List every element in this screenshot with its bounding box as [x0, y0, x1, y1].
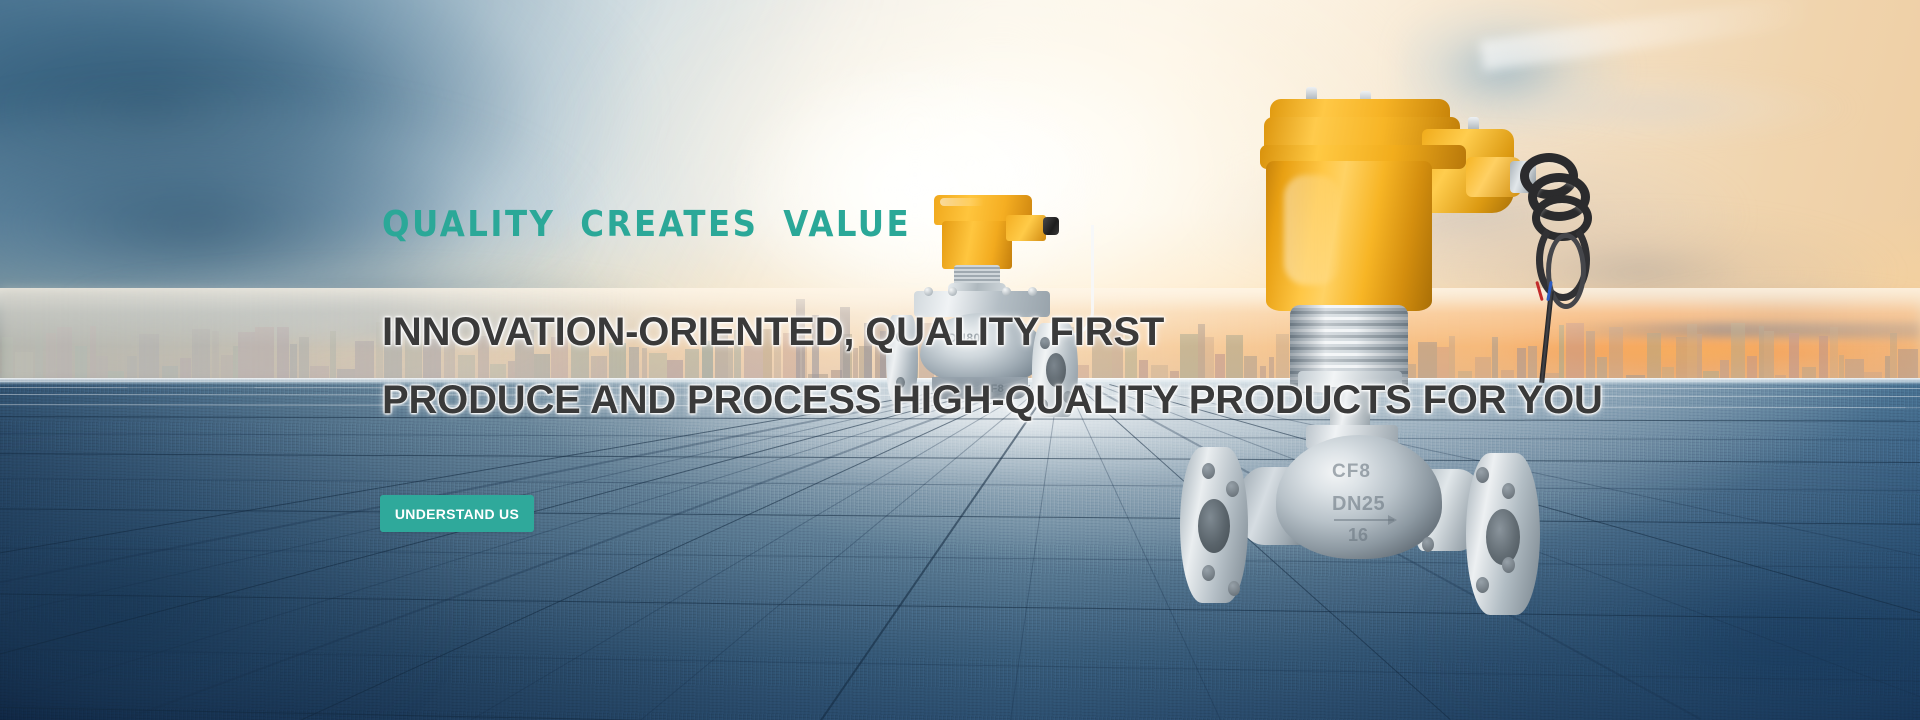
banner-subtitle-line-2: PRODUCE AND PROCESS HIGH-QUALITY PRODUCT… — [382, 378, 1603, 423]
banner-subtitle-line-1: INNOVATION-ORIENTED, QUALITY FIRST — [382, 310, 1164, 355]
hero-banner: DN80 CF8 — [0, 0, 1920, 720]
understand-us-button[interactable]: UNDERSTAND US — [380, 495, 534, 532]
banner-headline: QUALITY CREATES VALUE — [382, 204, 911, 245]
banner-content: QUALITY CREATES VALUE INNOVATION-ORIENTE… — [0, 0, 1920, 720]
